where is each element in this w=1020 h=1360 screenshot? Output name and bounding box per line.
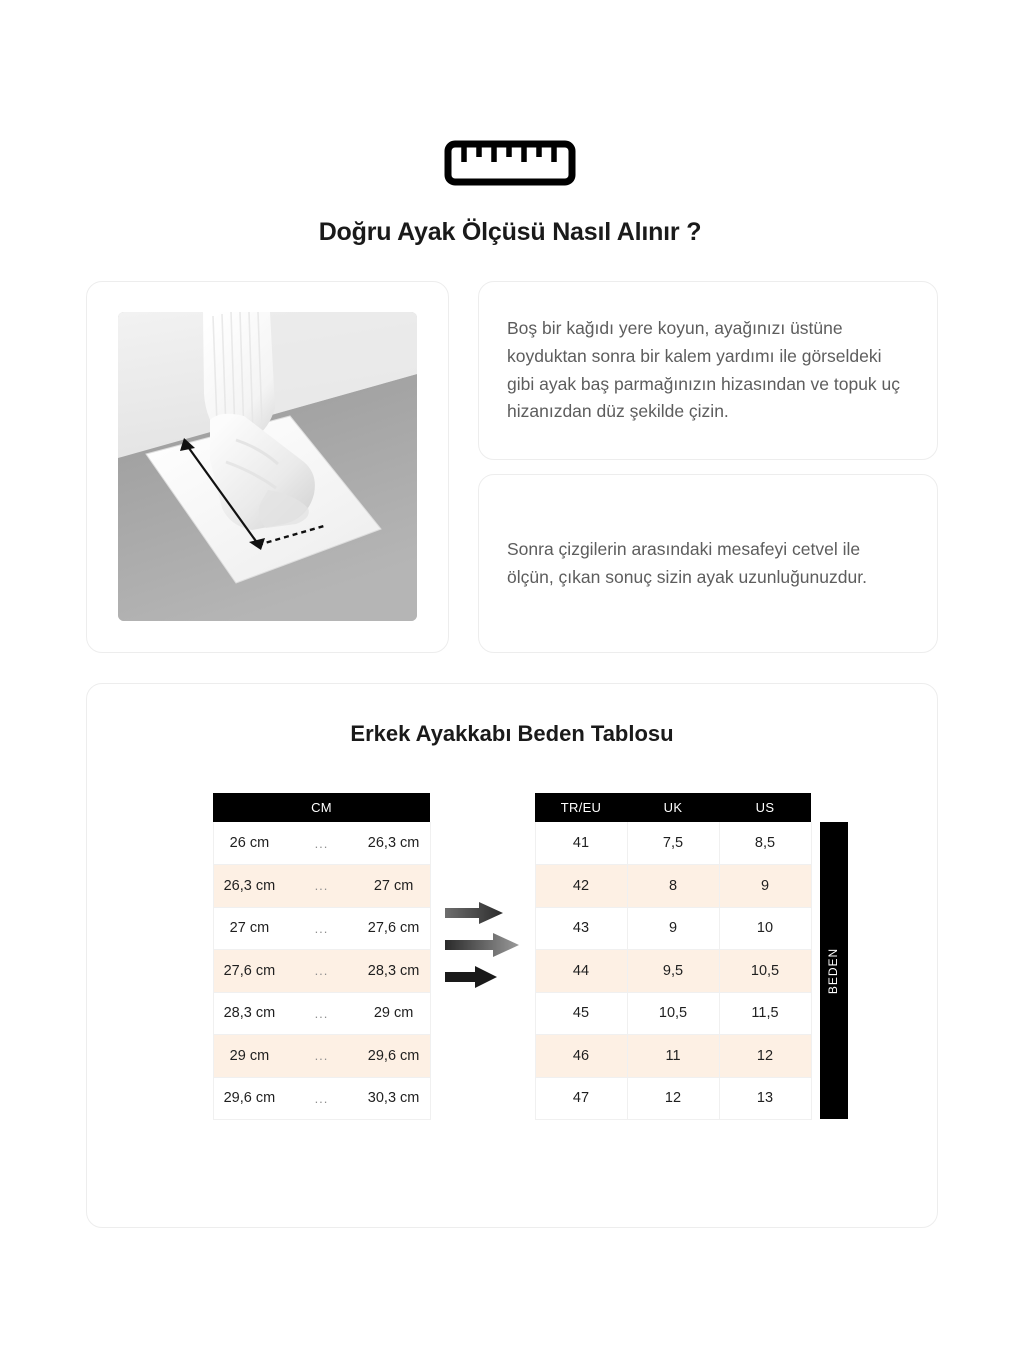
page-title: Doğru Ayak Ölçüsü Nasıl Alınır ? <box>0 218 1020 247</box>
size-us: 10,5 <box>719 950 811 993</box>
cm-from: 26,3 cm <box>213 865 285 908</box>
instructions-section: Boş bir kağıdı yere koyun, ayağınızı üst… <box>86 281 938 653</box>
cm-table-body: 26 cm ... 26,3 cm 26,3 cm ... 27 cm 27 c… <box>213 822 430 1120</box>
table-row: 45 10,5 11,5 <box>535 992 811 1035</box>
cm-from: 29 cm <box>213 1035 285 1078</box>
size-table: TR/EU UK US 41 7,5 8,5 42 8 <box>535 793 812 1120</box>
cm-header-cell: CM <box>213 793 430 822</box>
table-row: 47 12 13 <box>535 1077 811 1120</box>
size-us: 8,5 <box>719 822 811 865</box>
size-header-us: US <box>719 793 811 822</box>
foot-measure-photo <box>118 312 417 621</box>
instruction-text-2: Sonra çizgilerin arasındaki mesafeyi cet… <box>507 536 909 591</box>
size-header-row: TR/EU UK US <box>535 793 811 822</box>
table-row: 26,3 cm ... 27 cm <box>213 865 430 908</box>
cm-separator: ... <box>285 865 357 908</box>
cm-separator: ... <box>285 992 357 1035</box>
size-chart-card: Erkek Ayakkabı Beden Tablosu CM 26 cm ..… <box>86 683 938 1228</box>
size-uk: 8 <box>627 865 719 908</box>
cm-table: CM 26 cm ... 26,3 cm 26,3 cm ... 27 cm <box>213 793 431 1120</box>
cm-from: 26 cm <box>213 822 285 865</box>
size-treu: 45 <box>535 992 627 1035</box>
size-uk: 7,5 <box>627 822 719 865</box>
size-chart-title: Erkek Ayakkabı Beden Tablosu <box>87 721 937 747</box>
size-us: 11,5 <box>719 992 811 1035</box>
size-table-body: 41 7,5 8,5 42 8 9 43 9 10 <box>535 822 811 1120</box>
table-row: 29,6 cm ... 30,3 cm <box>213 1077 430 1120</box>
arrow-right-icon-2 <box>445 933 519 957</box>
size-us: 13 <box>719 1077 811 1120</box>
size-header-uk: UK <box>627 793 719 822</box>
table-row: 28,3 cm ... 29 cm <box>213 992 430 1035</box>
table-row: 27,6 cm ... 28,3 cm <box>213 950 430 993</box>
size-uk: 9 <box>627 907 719 950</box>
photo-card <box>86 281 449 653</box>
size-treu: 46 <box>535 1035 627 1078</box>
instruction-text-1: Boş bir kağıdı yere koyun, ayağınızı üst… <box>507 315 909 426</box>
cm-from: 28,3 cm <box>213 992 285 1035</box>
cm-separator: ... <box>285 1035 357 1078</box>
table-row: 43 9 10 <box>535 907 811 950</box>
size-us: 12 <box>719 1035 811 1078</box>
cm-separator: ... <box>285 822 357 865</box>
ruler-icon <box>444 140 576 186</box>
table-row: 26 cm ... 26,3 cm <box>213 822 430 865</box>
size-guide-page: Doğru Ayak Ölçüsü Nasıl Alınır ? <box>0 0 1020 1360</box>
cm-to: 29,6 cm <box>358 1035 430 1078</box>
right-arrows-icon <box>431 793 535 988</box>
arrow-right-icon-1 <box>445 902 503 924</box>
beden-side-label: BEDEN <box>820 822 848 1119</box>
table-row: 42 8 9 <box>535 865 811 908</box>
cm-to: 28,3 cm <box>358 950 430 993</box>
beden-label-text: BEDEN <box>827 947 841 993</box>
size-treu: 47 <box>535 1077 627 1120</box>
foot-photo-illustration <box>118 312 417 621</box>
size-us: 10 <box>719 907 811 950</box>
cm-header-row: CM <box>213 793 430 822</box>
size-treu: 43 <box>535 907 627 950</box>
cm-to: 29 cm <box>358 992 430 1035</box>
size-tables-row: CM 26 cm ... 26,3 cm 26,3 cm ... 27 cm <box>87 793 937 1120</box>
size-uk: 9,5 <box>627 950 719 993</box>
size-uk: 10,5 <box>627 992 719 1035</box>
instruction-card-2: Sonra çizgilerin arasındaki mesafeyi cet… <box>478 474 938 653</box>
cm-to: 27 cm <box>358 865 430 908</box>
cm-table-head: CM <box>213 793 430 822</box>
cm-to: 26,3 cm <box>358 822 430 865</box>
cm-from: 29,6 cm <box>213 1077 285 1120</box>
size-treu: 41 <box>535 822 627 865</box>
cm-separator: ... <box>285 907 357 950</box>
cm-separator: ... <box>285 1077 357 1120</box>
size-table-head: TR/EU UK US <box>535 793 811 822</box>
size-treu: 44 <box>535 950 627 993</box>
cm-to: 27,6 cm <box>358 907 430 950</box>
table-row: 27 cm ... 27,6 cm <box>213 907 430 950</box>
arrow-right-icon-3 <box>445 966 497 988</box>
cm-to: 30,3 cm <box>358 1077 430 1120</box>
table-row: 44 9,5 10,5 <box>535 950 811 993</box>
size-table-wrapper: TR/EU UK US 41 7,5 8,5 42 8 <box>535 793 812 1120</box>
size-uk: 11 <box>627 1035 719 1078</box>
cm-from: 27,6 cm <box>213 950 285 993</box>
table-row: 46 11 12 <box>535 1035 811 1078</box>
size-header-treu: TR/EU <box>535 793 627 822</box>
cm-from: 27 cm <box>213 907 285 950</box>
instruction-card-1: Boş bir kağıdı yere koyun, ayağınızı üst… <box>478 281 938 460</box>
table-row: 41 7,5 8,5 <box>535 822 811 865</box>
ruler-icon-container <box>0 140 1020 186</box>
size-treu: 42 <box>535 865 627 908</box>
cm-separator: ... <box>285 950 357 993</box>
table-row: 29 cm ... 29,6 cm <box>213 1035 430 1078</box>
instruction-text-column: Boş bir kağıdı yere koyun, ayağınızı üst… <box>478 281 938 653</box>
size-us: 9 <box>719 865 811 908</box>
size-uk: 12 <box>627 1077 719 1120</box>
